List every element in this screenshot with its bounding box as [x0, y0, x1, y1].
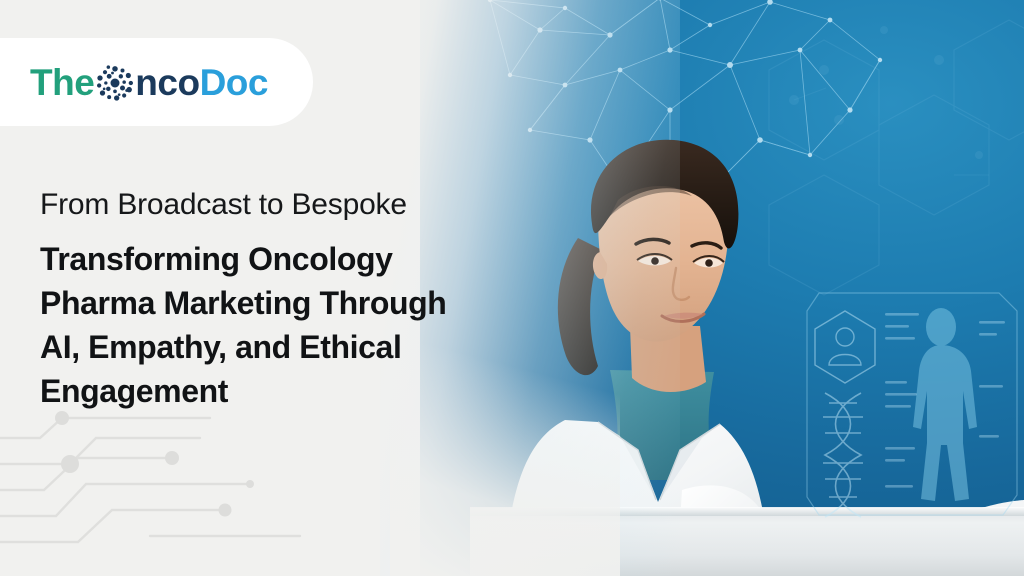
person-hexagon-icon	[815, 311, 875, 383]
hud-panel-graphic	[789, 285, 1024, 535]
headline-line-2: Pharma Marketing Through	[40, 281, 560, 325]
headline-line-3: AI, Empathy, and Ethical	[40, 325, 560, 369]
headline-line-1: Transforming Oncology	[40, 237, 560, 281]
logo-text-nco: nco	[135, 64, 199, 101]
marketing-banner: The nco	[0, 0, 1024, 576]
logo-text-the: The	[30, 64, 94, 101]
logo-text-doc: Doc	[200, 64, 268, 101]
logo-card[interactable]: The nco	[0, 38, 313, 126]
eyebrow-text: From Broadcast to Bespoke	[40, 188, 407, 222]
logo[interactable]: The nco	[30, 62, 268, 102]
cell-molecule-icon	[95, 63, 135, 103]
dna-helix-icon	[823, 393, 863, 517]
circuit-trace-graphic	[0, 406, 330, 576]
headline-line-4: Engagement	[40, 369, 560, 413]
page-title: Transforming Oncology Pharma Marketing T…	[40, 237, 560, 414]
human-body-silhouette-icon	[913, 308, 977, 501]
